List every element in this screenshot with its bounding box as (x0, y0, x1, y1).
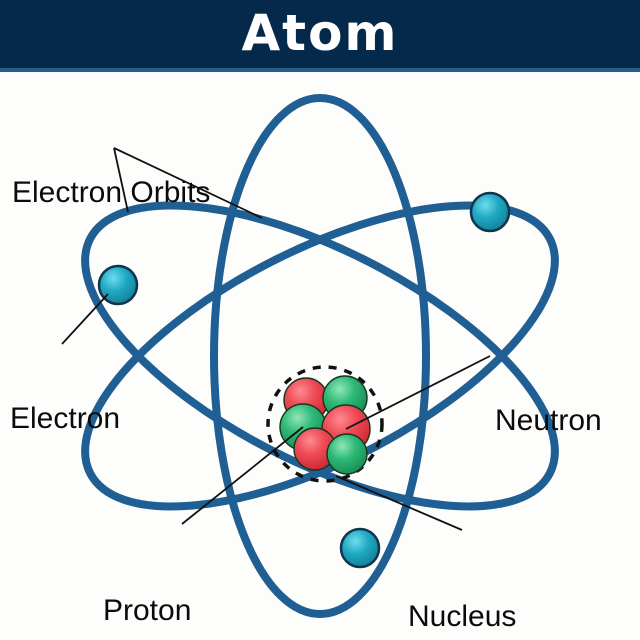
orbit-vertical (214, 98, 426, 614)
atom-figure: Electron Orbits Electron Neutron Proton … (0, 72, 640, 640)
leader-electron (62, 294, 108, 344)
electron-top-right (471, 193, 509, 231)
atom-diagram-page: Atom (0, 0, 640, 640)
label-electron-orbits: Electron Orbits (12, 176, 210, 210)
label-nucleus: Nucleus (408, 600, 516, 634)
atom-structure-diagram (0, 72, 640, 640)
label-neutron: Neutron (495, 404, 602, 438)
label-electron: Electron (10, 402, 120, 436)
page-title: Atom (0, 0, 640, 68)
electron-bottom (341, 529, 379, 567)
neutron-bottom-right (327, 434, 367, 474)
leader-proton (182, 427, 303, 524)
label-proton: Proton (103, 594, 191, 628)
